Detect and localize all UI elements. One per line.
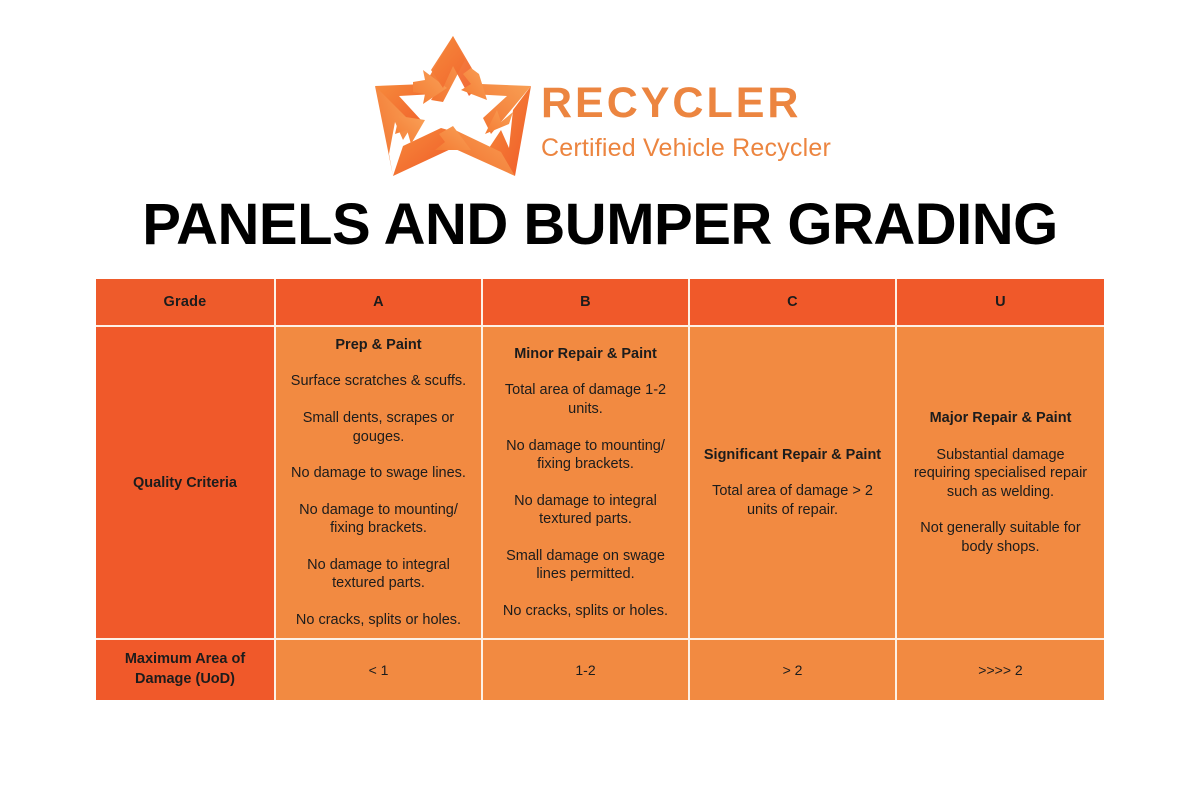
criteria-line: No damage to integral textured parts.: [495, 492, 676, 529]
criteria-cell-grade-b: Minor Repair & Paint Total area of damag…: [483, 327, 690, 640]
table-row-maximum-area: Maximum Area of Damage (UoD) < 1 1-2 > 2…: [96, 640, 1104, 700]
criteria-line: Not generally suitable for body shops.: [909, 519, 1092, 556]
header-grade-c: C: [690, 279, 897, 327]
criteria-heading-b: Minor Repair & Paint: [495, 345, 676, 364]
criteria-line: Small damage on swage lines permitted.: [495, 547, 676, 584]
criteria-line: No cracks, splits or holes.: [288, 611, 469, 630]
criteria-line: No cracks, splits or holes.: [495, 602, 676, 621]
criteria-cell-grade-a: Prep & Paint Surface scratches & scuffs.…: [276, 327, 483, 640]
criteria-heading-u: Major Repair & Paint: [909, 409, 1092, 428]
criteria-line: No damage to mounting/ fixing brackets.: [288, 501, 469, 538]
page-title: PANELS AND BUMPER GRADING: [0, 192, 1200, 259]
logo-name: RECYCLER: [541, 82, 831, 125]
logo-wordmark: RECYCLER Certified Vehicle Recycler: [541, 52, 831, 161]
logo-inner: RECYCLER Certified Vehicle Recycler: [369, 30, 831, 182]
header-grade-a: A: [276, 279, 483, 327]
table-row-quality-criteria: Quality Criteria Prep & Paint Surface sc…: [96, 327, 1104, 640]
header-grade-b: B: [483, 279, 690, 327]
brand-logo: RECYCLER Certified Vehicle Recycler: [0, 26, 1200, 186]
criteria-line: Total area of damage > 2 units of repair…: [702, 482, 883, 519]
recycling-star-logo-icon: [369, 30, 537, 182]
criteria-cell-grade-u: Major Repair & Paint Substantial damage …: [897, 327, 1104, 640]
maxarea-value-u: >>>> 2: [897, 640, 1104, 700]
criteria-line: Substantial damage requiring specialised…: [909, 446, 1092, 502]
criteria-line: Surface scratches & scuffs.: [288, 372, 469, 391]
header-label-grade: Grade: [96, 279, 276, 327]
header-grade-u: U: [897, 279, 1104, 327]
grading-poster: RECYCLER Certified Vehicle Recycler PANE…: [0, 0, 1200, 800]
table-header-row: Grade A B C U: [96, 279, 1104, 327]
grading-table: Grade A B C U Quality Criteria Prep & Pa…: [96, 279, 1104, 700]
row-label-quality-criteria: Quality Criteria: [96, 327, 276, 640]
logo-tagline: Certified Vehicle Recycler: [541, 136, 831, 161]
criteria-line: No damage to mounting/ fixing brackets.: [495, 437, 676, 474]
criteria-heading-a: Prep & Paint: [288, 336, 469, 355]
criteria-line: Total area of damage 1-2 units.: [495, 381, 676, 418]
maxarea-value-a: < 1: [276, 640, 483, 700]
maxarea-value-c: > 2: [690, 640, 897, 700]
criteria-line: No damage to integral textured parts.: [288, 556, 469, 593]
row-label-maximum-area: Maximum Area of Damage (UoD): [96, 640, 276, 700]
criteria-heading-c: Significant Repair & Paint: [702, 446, 883, 465]
criteria-cell-grade-c: Significant Repair & Paint Total area of…: [690, 327, 897, 640]
criteria-line: No damage to swage lines.: [288, 464, 469, 483]
maxarea-value-b: 1-2: [483, 640, 690, 700]
criteria-line: Small dents, scrapes or gouges.: [288, 409, 469, 446]
